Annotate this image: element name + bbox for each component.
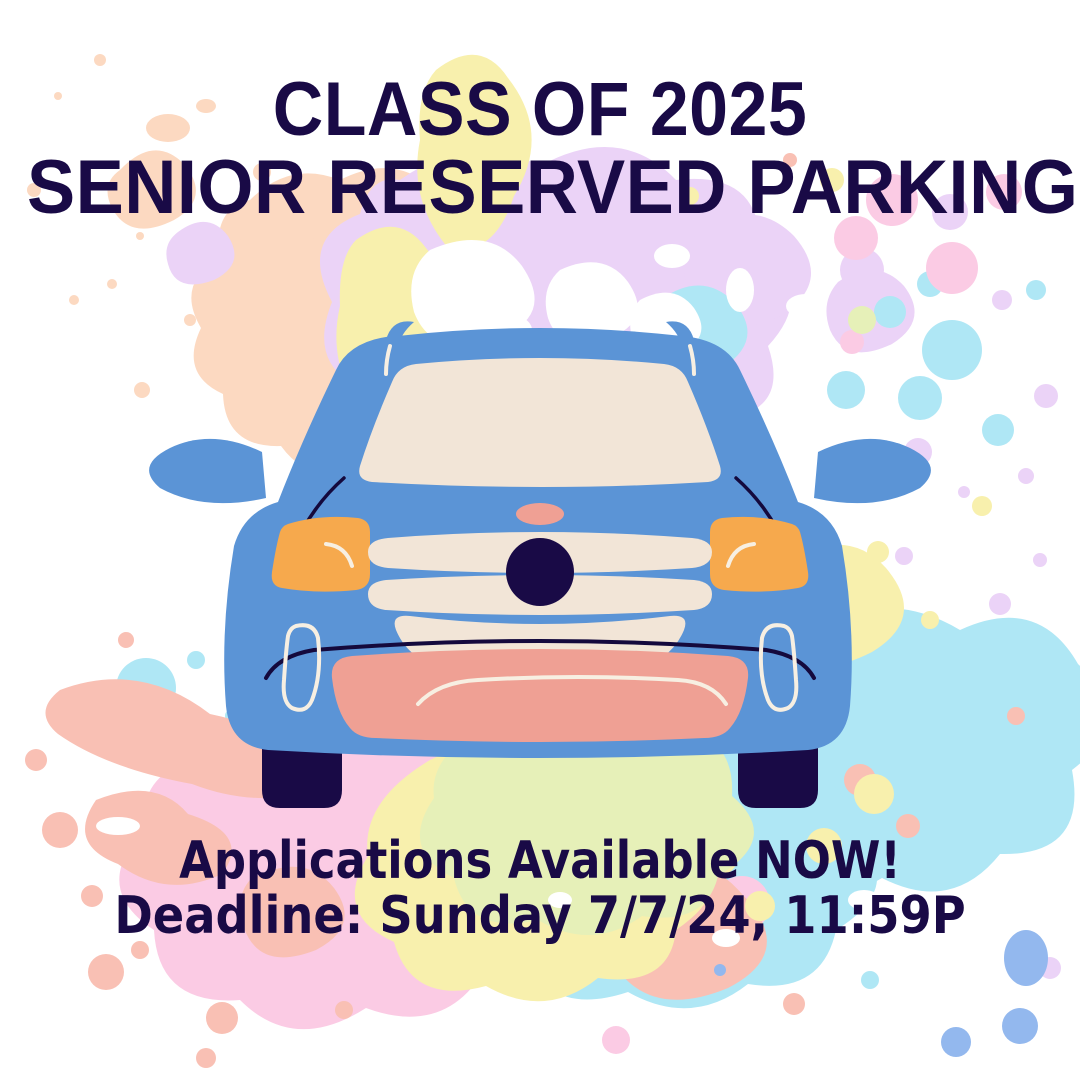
car-emblem: [506, 538, 574, 606]
footer-line-applications-available: Applications Available NOW!: [22, 835, 1059, 888]
page-title: CLASS OF 2025 SENIOR RESERVED PARKING: [0, 74, 1080, 224]
footer-text: Applications Available NOW! Deadline: Su…: [0, 835, 1080, 943]
title-line-senior-reserved-parking: SENIOR RESERVED PARKING: [27, 152, 1053, 224]
car-hood-badge: [516, 503, 564, 525]
footer-line-deadline: Deadline: Sunday 7/7/24, 11:59P: [5, 890, 1074, 943]
poster-canvas: CLASS OF 2025 SENIOR RESERVED PARKING Ap…: [0, 0, 1080, 1080]
car-bumper-insert: [332, 649, 748, 742]
car-headlight-right: [710, 517, 808, 592]
title-line-class-of: CLASS OF 2025: [43, 74, 1037, 146]
car-windshield: [359, 358, 721, 487]
car-headlight-left: [272, 517, 370, 592]
